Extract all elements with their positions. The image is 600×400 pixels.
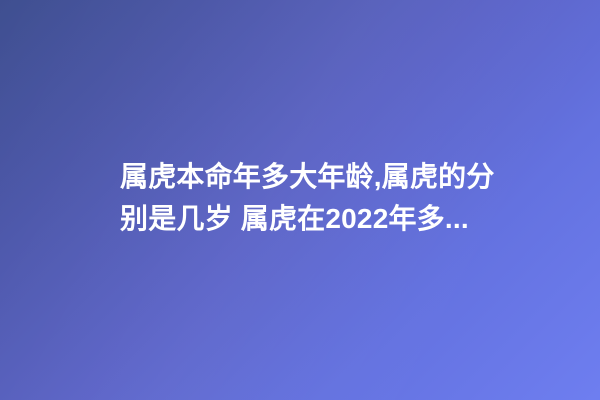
cover-card: 属虎本命年多大年龄,属虎的分别是几岁 属虎在2022年多...: [0, 0, 600, 400]
page-title: 属虎本命年多大年龄,属虎的分别是几岁 属虎在2022年多...: [120, 156, 508, 240]
cover-title-block: 属虎本命年多大年龄,属虎的分别是几岁 属虎在2022年多...: [120, 156, 508, 240]
